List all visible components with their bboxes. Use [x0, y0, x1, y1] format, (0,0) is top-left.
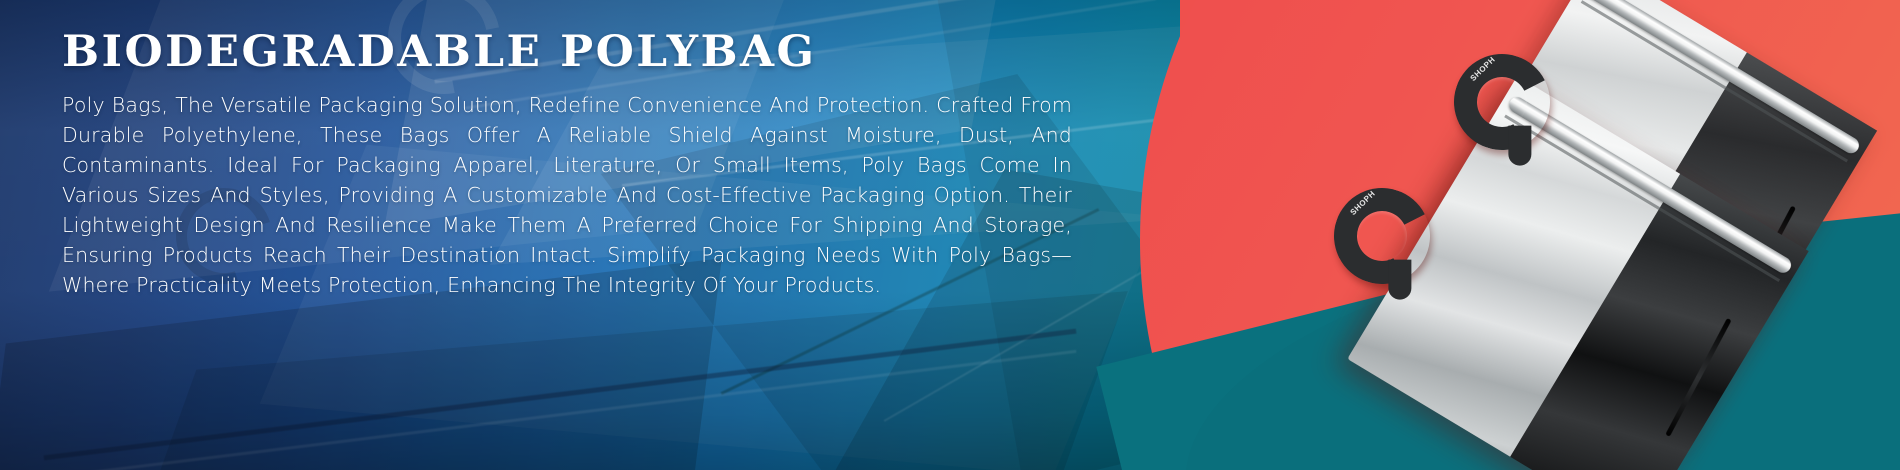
banner-content: BIODEGRADABLE POLYBAG Poly Bags, The Ver… — [62, 30, 1072, 300]
product-banner: SHOPH SHOPH BIODEGRADABLE POLYBAG Poly B… — [0, 0, 1900, 470]
hook-tail — [1388, 260, 1411, 300]
page-title: BIODEGRADABLE POLYBAG — [62, 30, 1092, 76]
hook-tail — [1508, 126, 1531, 166]
body-paragraph: Poly Bags, The Versatile Packaging Solut… — [62, 90, 1072, 300]
product-photo: SHOPH SHOPH — [1300, 10, 1900, 470]
